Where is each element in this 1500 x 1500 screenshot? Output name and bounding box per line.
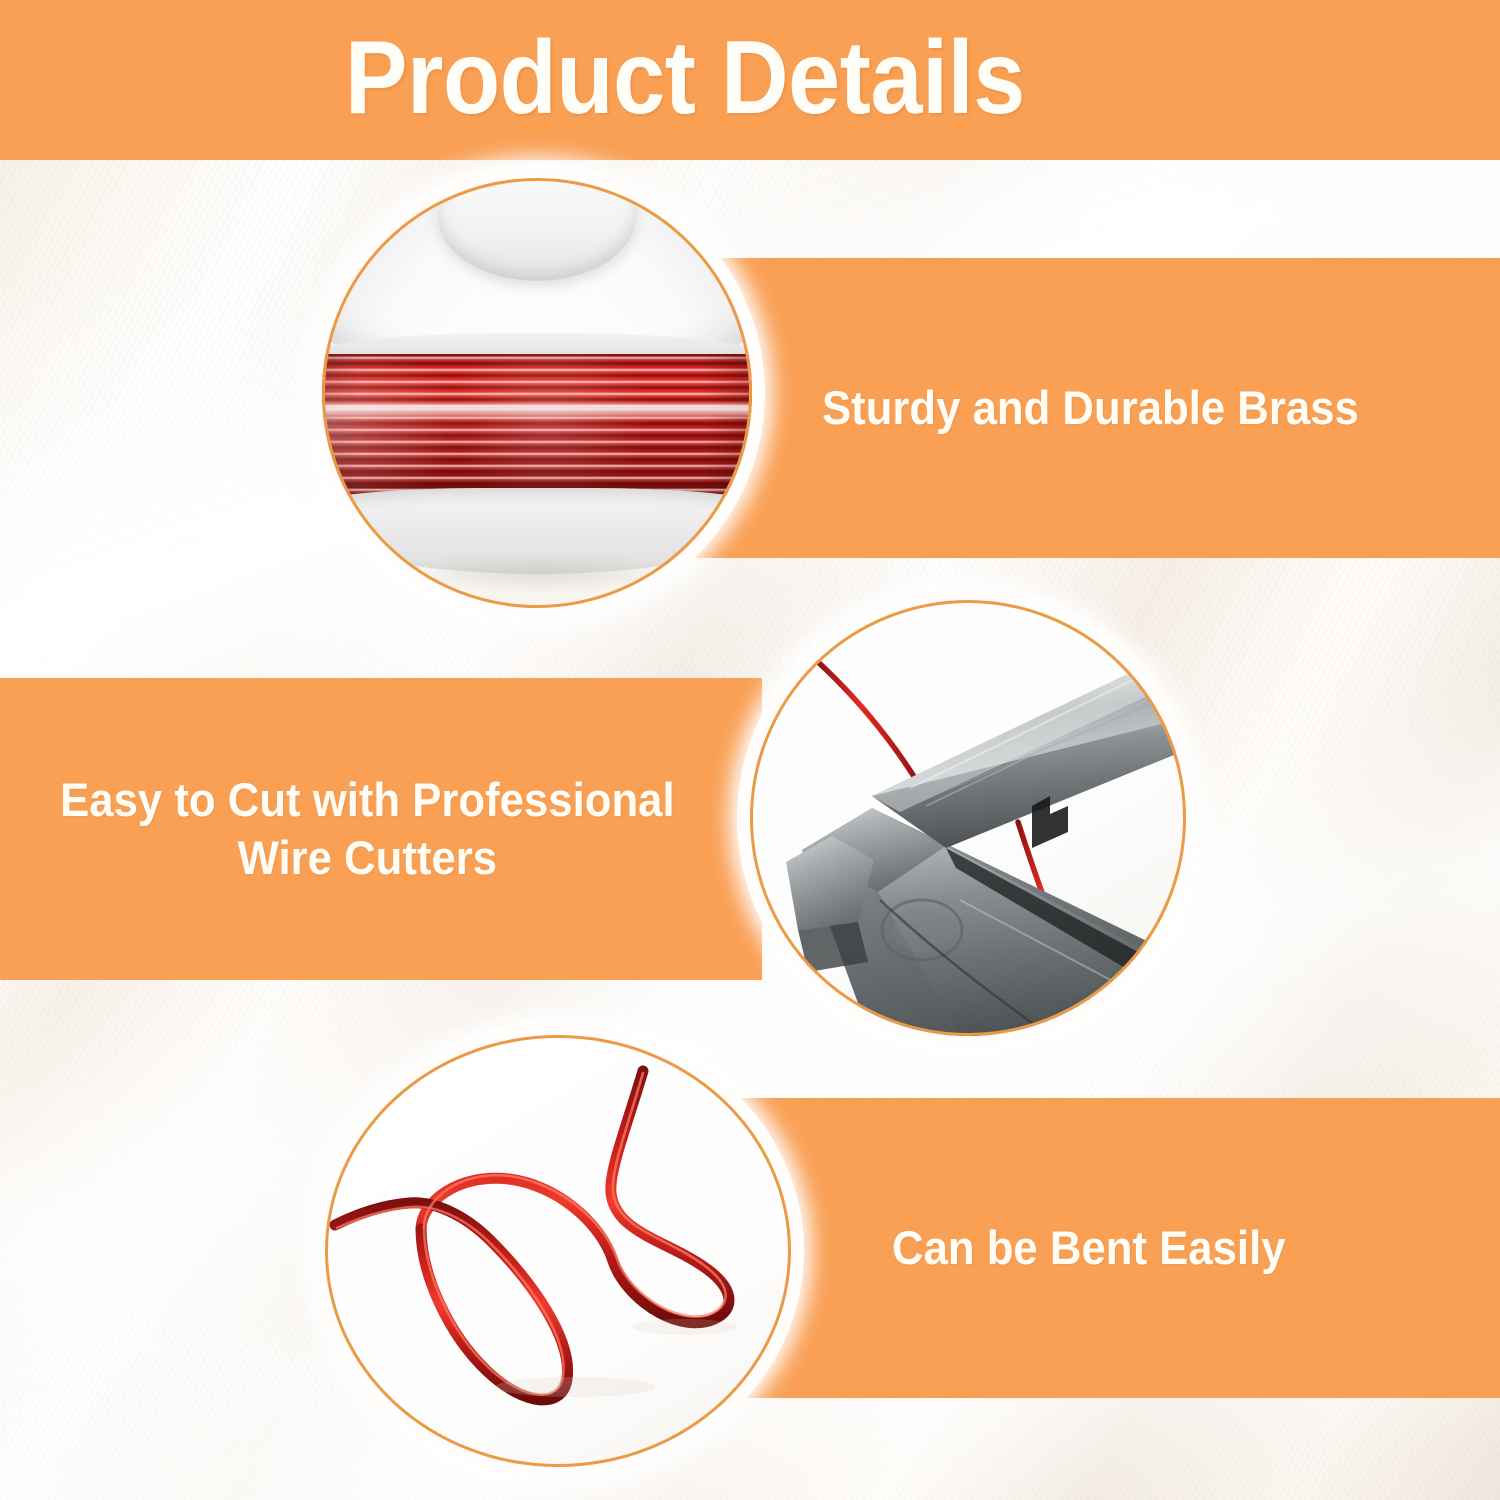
bent-wire-photo — [325, 1035, 791, 1467]
wire-left-loop — [335, 1203, 568, 1400]
bent-wire-illustration — [325, 1035, 791, 1467]
feature-image-wire-cutters — [750, 600, 1186, 1036]
feature-image-bent-wire — [325, 1035, 791, 1467]
product-details-infographic: Product Details Sturdy and Durable Brass… — [0, 0, 1500, 1500]
wire-highlight-right — [424, 1073, 726, 1317]
header-bar: Product Details — [0, 0, 1500, 160]
wire-spool-photo — [322, 178, 752, 608]
feature-label-2: Easy to Cut with Professional Wire Cutte… — [60, 771, 674, 887]
feature-banner-2: Easy to Cut with Professional Wire Cutte… — [0, 678, 762, 980]
plier-upper-jaw — [872, 646, 1186, 848]
feature-label-3: Can be Bent Easily — [892, 1219, 1286, 1277]
pliers-illustration — [750, 600, 1186, 1036]
feature-image-wire-spool — [322, 178, 752, 608]
plier-lower-jaw — [802, 808, 1186, 1036]
plier-jaw-tip — [786, 836, 874, 972]
page-title: Product Details — [345, 18, 1083, 138]
wire-cutter-photo — [750, 600, 1186, 1036]
feature-banner-3: Can be Bent Easily — [728, 1098, 1500, 1398]
cutting-notch — [1032, 796, 1068, 848]
wire-coil-highlight — [322, 402, 752, 417]
spool-drop-shadow — [348, 548, 726, 600]
wire-highlight-left — [337, 1207, 564, 1395]
feature-label-1: Sturdy and Durable Brass — [822, 379, 1359, 437]
red-wire-coil — [322, 354, 752, 496]
wire-right-loop — [421, 1071, 729, 1323]
